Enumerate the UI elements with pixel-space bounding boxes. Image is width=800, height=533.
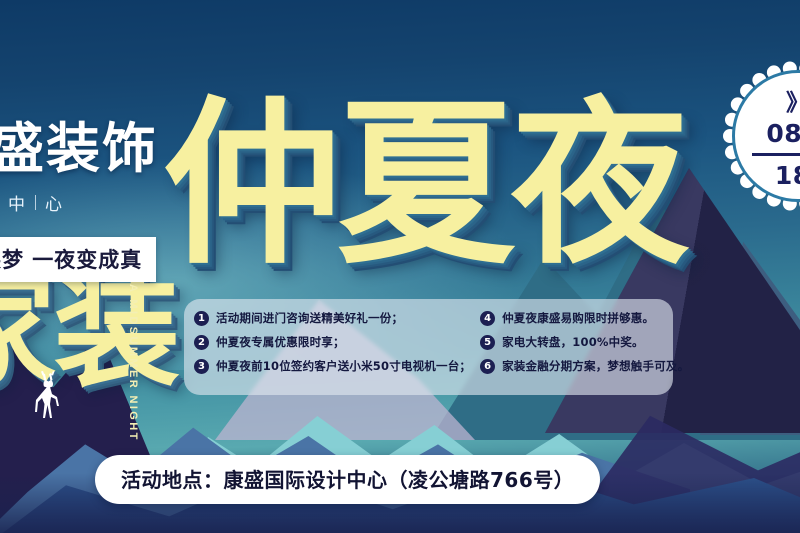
offer-text: 家电大转盘，100%中奖。 [502, 334, 644, 350]
deer-icon [24, 368, 74, 420]
offer-item: 1 活动期间进门咨询送精美好礼一份； [194, 310, 471, 326]
offer-text: 仲夏夜专属优惠限时享； [216, 334, 345, 350]
address-pill: 活动地点：康盛国际设计中心（凌公塘路766号） [95, 455, 600, 504]
offer-number-badge: 4 [480, 311, 495, 326]
offer-item: 3 仲夏夜前10位签约客户送小米50寸电视机一台； [194, 358, 471, 374]
offers-column-left: 1 活动期间进门咨询送精美好礼一份； 2 仲夏夜专属优惠限时享； 3 仲夏夜前1… [194, 310, 471, 395]
offer-text: 家装金融分期方案，梦想触手可及。 [502, 358, 689, 374]
offer-number-badge: 2 [194, 335, 209, 350]
brand-name: 康盛装饰 [0, 122, 184, 176]
brand-subtitle: 設 計 中 心 [0, 190, 184, 215]
en-vertical-label: A MIDSUMMER NIGHT [127, 284, 139, 404]
offer-item: 4 仲夏夜康盛易购限时拼够惠。 [480, 310, 689, 326]
offer-item: 5 家电大转盘，100%中奖。 [480, 334, 689, 350]
hero-title: 仲夏夜 [163, 96, 685, 274]
offer-text: 仲夏夜前10位签约客户送小米50寸电视机一台； [216, 358, 471, 374]
poster-canvas: 康盛装饰 設 計 中 心 家装梦 一夜变成真 仲夏夜 家装 A MIDSUMME… [0, 0, 800, 533]
badge-time: 18: [775, 161, 800, 190]
date-badge: 》 08/2 18: [718, 56, 800, 216]
offer-item: 2 仲夏夜专属优惠限时享； [194, 334, 471, 350]
badge-date: 08/2 [766, 119, 800, 148]
brand-sub-char-3: 心 [45, 190, 63, 215]
badge-top-mark: 》 [786, 83, 800, 117]
brand-block: 康盛装饰 設 計 中 心 [0, 122, 184, 215]
offer-number-badge: 6 [480, 359, 495, 374]
offer-text: 活动期间进门咨询送精美好礼一份； [216, 310, 403, 326]
brand-sub-char-2: 中 [8, 190, 26, 215]
offer-number-badge: 5 [480, 335, 495, 350]
offer-item: 6 家装金融分期方案，梦想触手可及。 [480, 358, 689, 374]
offer-text: 仲夏夜康盛易购限时拼够惠。 [502, 310, 654, 326]
offer-number-badge: 1 [194, 311, 209, 326]
offers-column-right: 4 仲夏夜康盛易购限时拼够惠。 5 家电大转盘，100%中奖。 6 家装金融分期… [471, 310, 689, 395]
tagline-box: 家装梦 一夜变成真 [0, 237, 156, 282]
offers-panel: 1 活动期间进门咨询送精美好礼一份； 2 仲夏夜专属优惠限时享； 3 仲夏夜前1… [184, 299, 673, 395]
badge-divider [752, 153, 800, 156]
divider-icon [35, 195, 36, 210]
offer-number-badge: 3 [194, 359, 209, 374]
